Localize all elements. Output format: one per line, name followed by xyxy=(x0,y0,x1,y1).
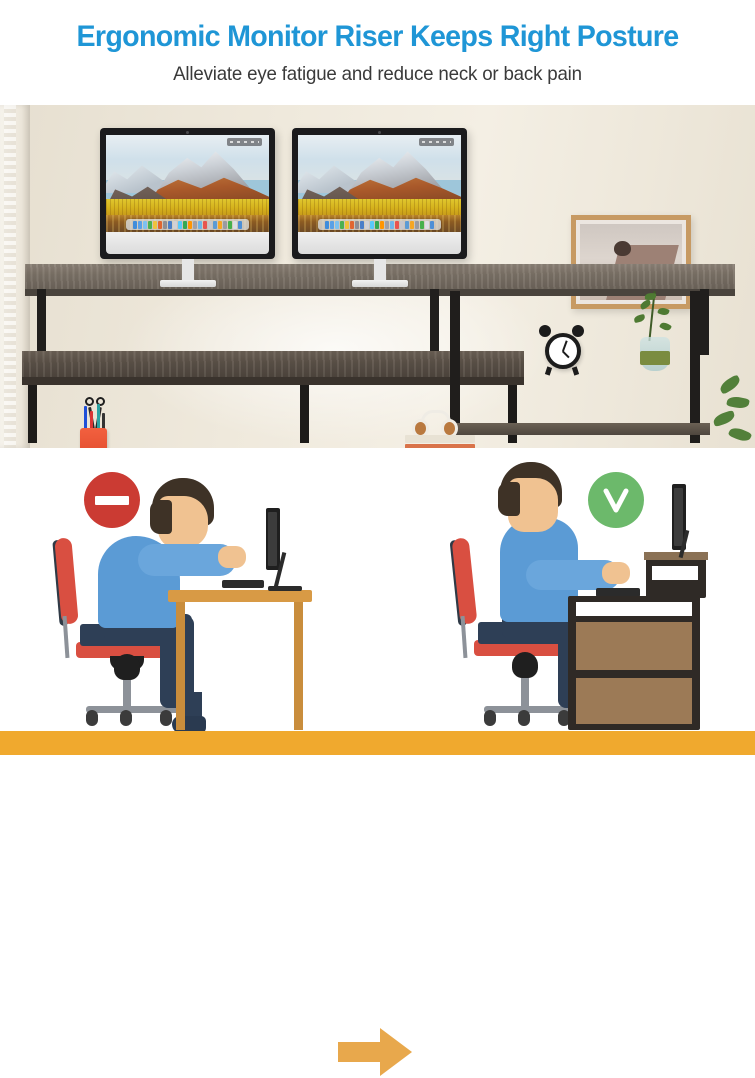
dock-icon xyxy=(218,221,222,229)
dock xyxy=(318,219,442,230)
monitor-stand-foot xyxy=(352,280,408,287)
riser-leg xyxy=(37,289,46,355)
webcam-icon xyxy=(378,131,381,134)
alarm-clock-bell xyxy=(572,325,584,337)
check-mark-icon xyxy=(588,472,644,528)
dock-icon-row xyxy=(318,219,442,230)
bad-posture-scene xyxy=(0,448,378,755)
webcam-icon xyxy=(186,131,189,134)
dock-icon xyxy=(158,221,162,229)
product-photo: THRIFT EPSON xyxy=(0,105,755,448)
dock-icon xyxy=(325,221,329,229)
monitor-base xyxy=(268,586,302,591)
person-hand xyxy=(218,546,246,568)
riser-gap xyxy=(652,566,698,580)
riser-leg xyxy=(430,289,439,355)
dock-icon xyxy=(370,221,374,229)
dock-icon xyxy=(350,221,354,229)
dock-icon xyxy=(233,221,237,229)
person-hair-back xyxy=(498,482,520,516)
dock-icon xyxy=(203,221,207,229)
dock-icon xyxy=(188,221,192,229)
chair-caster xyxy=(518,710,530,726)
dock-icon xyxy=(410,221,414,229)
good-posture-scene xyxy=(378,448,755,755)
dock-icon xyxy=(415,221,419,229)
riser-leg xyxy=(700,289,709,355)
monitor-stand-foot xyxy=(160,280,216,287)
posture-comparison-diagram xyxy=(0,448,755,755)
dock-icon xyxy=(168,221,172,229)
dock-icon xyxy=(238,221,242,229)
monitor-screen xyxy=(674,488,683,546)
alarm-clock-bell xyxy=(539,325,551,337)
menu-bar xyxy=(419,138,455,146)
cabinet-top-gap xyxy=(576,602,692,616)
cabinet-drawer xyxy=(576,622,692,670)
monitor-left xyxy=(100,128,275,259)
transition-arrow-icon xyxy=(338,1026,412,1078)
dock-icon xyxy=(400,221,404,229)
chair-mechanism xyxy=(512,652,538,678)
floor-strip xyxy=(0,731,755,755)
monitor-chin xyxy=(298,232,461,254)
dock-icon xyxy=(425,221,429,229)
desk-leg xyxy=(176,602,185,730)
book xyxy=(405,435,475,443)
shelf-post xyxy=(690,291,700,443)
dock-icon xyxy=(228,221,232,229)
book-stack: THRIFT xyxy=(405,435,475,448)
headphones-icon xyxy=(410,410,462,438)
dock-icon xyxy=(148,221,152,229)
plant-leaf xyxy=(726,395,750,410)
plant-leaf xyxy=(728,425,753,444)
dock-icon xyxy=(153,221,157,229)
dock-icon xyxy=(355,221,359,229)
dock-icon xyxy=(345,221,349,229)
monitor-bezel xyxy=(292,128,467,259)
dock xyxy=(126,219,250,230)
dock-icon xyxy=(198,221,202,229)
header-section: Ergonomic Monitor Riser Keeps Right Post… xyxy=(0,0,755,105)
chair-mechanism xyxy=(114,654,140,680)
monitor-screen xyxy=(298,135,461,232)
no-entry-bar xyxy=(95,496,129,505)
dock-icon xyxy=(430,221,434,229)
side-shelf xyxy=(450,423,710,435)
desk-leg xyxy=(300,385,309,443)
dock-icon xyxy=(223,221,227,229)
page-title: Ergonomic Monitor Riser Keeps Right Post… xyxy=(11,20,743,54)
dock-icon xyxy=(385,221,389,229)
desk-leg xyxy=(28,385,37,443)
cabinet-drawer xyxy=(576,678,692,724)
dock-icon xyxy=(335,221,339,229)
desk-leg xyxy=(294,602,303,730)
no-entry-icon xyxy=(84,472,140,528)
dock-icon xyxy=(395,221,399,229)
monitor-screen xyxy=(268,512,277,566)
vase-band xyxy=(640,351,670,365)
dock-icon xyxy=(420,221,424,229)
monitor-chin xyxy=(106,232,269,254)
dock-icon xyxy=(213,221,217,229)
dock-icon xyxy=(183,221,187,229)
desk-surface xyxy=(168,590,312,602)
monitor-right xyxy=(292,128,467,259)
product-marketing-image: Ergonomic Monitor Riser Keeps Right Post… xyxy=(0,0,755,755)
dock-icon xyxy=(133,221,137,229)
dock-icon xyxy=(365,221,369,229)
dock-icon xyxy=(208,221,212,229)
dock-icon xyxy=(173,221,177,229)
keyboard xyxy=(222,580,264,588)
dock-icon xyxy=(390,221,394,229)
dock-icon xyxy=(143,221,147,229)
chair-backrest xyxy=(452,537,478,624)
chair-caster xyxy=(120,710,132,726)
potted-plant xyxy=(697,375,755,448)
dock-icon xyxy=(138,221,142,229)
menu-bar xyxy=(227,138,263,146)
dock-icon xyxy=(375,221,379,229)
dock-icon xyxy=(178,221,182,229)
monitor-riser-top xyxy=(644,552,708,560)
dock-icon xyxy=(340,221,344,229)
desk-edge xyxy=(22,377,524,385)
art-ball-shape xyxy=(614,241,631,256)
chair-caster xyxy=(160,710,172,726)
monitor-bezel xyxy=(100,128,275,259)
alarm-clock xyxy=(545,333,581,369)
monitor-riser-edge xyxy=(25,289,735,296)
person-hand xyxy=(602,562,630,584)
chair-caster xyxy=(86,710,98,726)
dock-icon xyxy=(360,221,364,229)
pen-cup xyxy=(80,428,107,448)
desk-top xyxy=(22,351,524,377)
dock-icon xyxy=(330,221,334,229)
dock-icon xyxy=(380,221,384,229)
page-subtitle: Alleviate eye fatigue and reduce neck or… xyxy=(15,63,740,86)
dock-icon xyxy=(163,221,167,229)
dock-icon-row xyxy=(126,219,250,230)
plant-leaf xyxy=(718,374,743,395)
plant-leaf xyxy=(712,410,736,427)
chair-caster xyxy=(484,710,496,726)
check-glyph xyxy=(601,485,631,515)
dock-icon xyxy=(405,221,409,229)
person-hair-back xyxy=(150,500,172,534)
dock-icon xyxy=(193,221,197,229)
monitor-screen xyxy=(106,135,269,232)
